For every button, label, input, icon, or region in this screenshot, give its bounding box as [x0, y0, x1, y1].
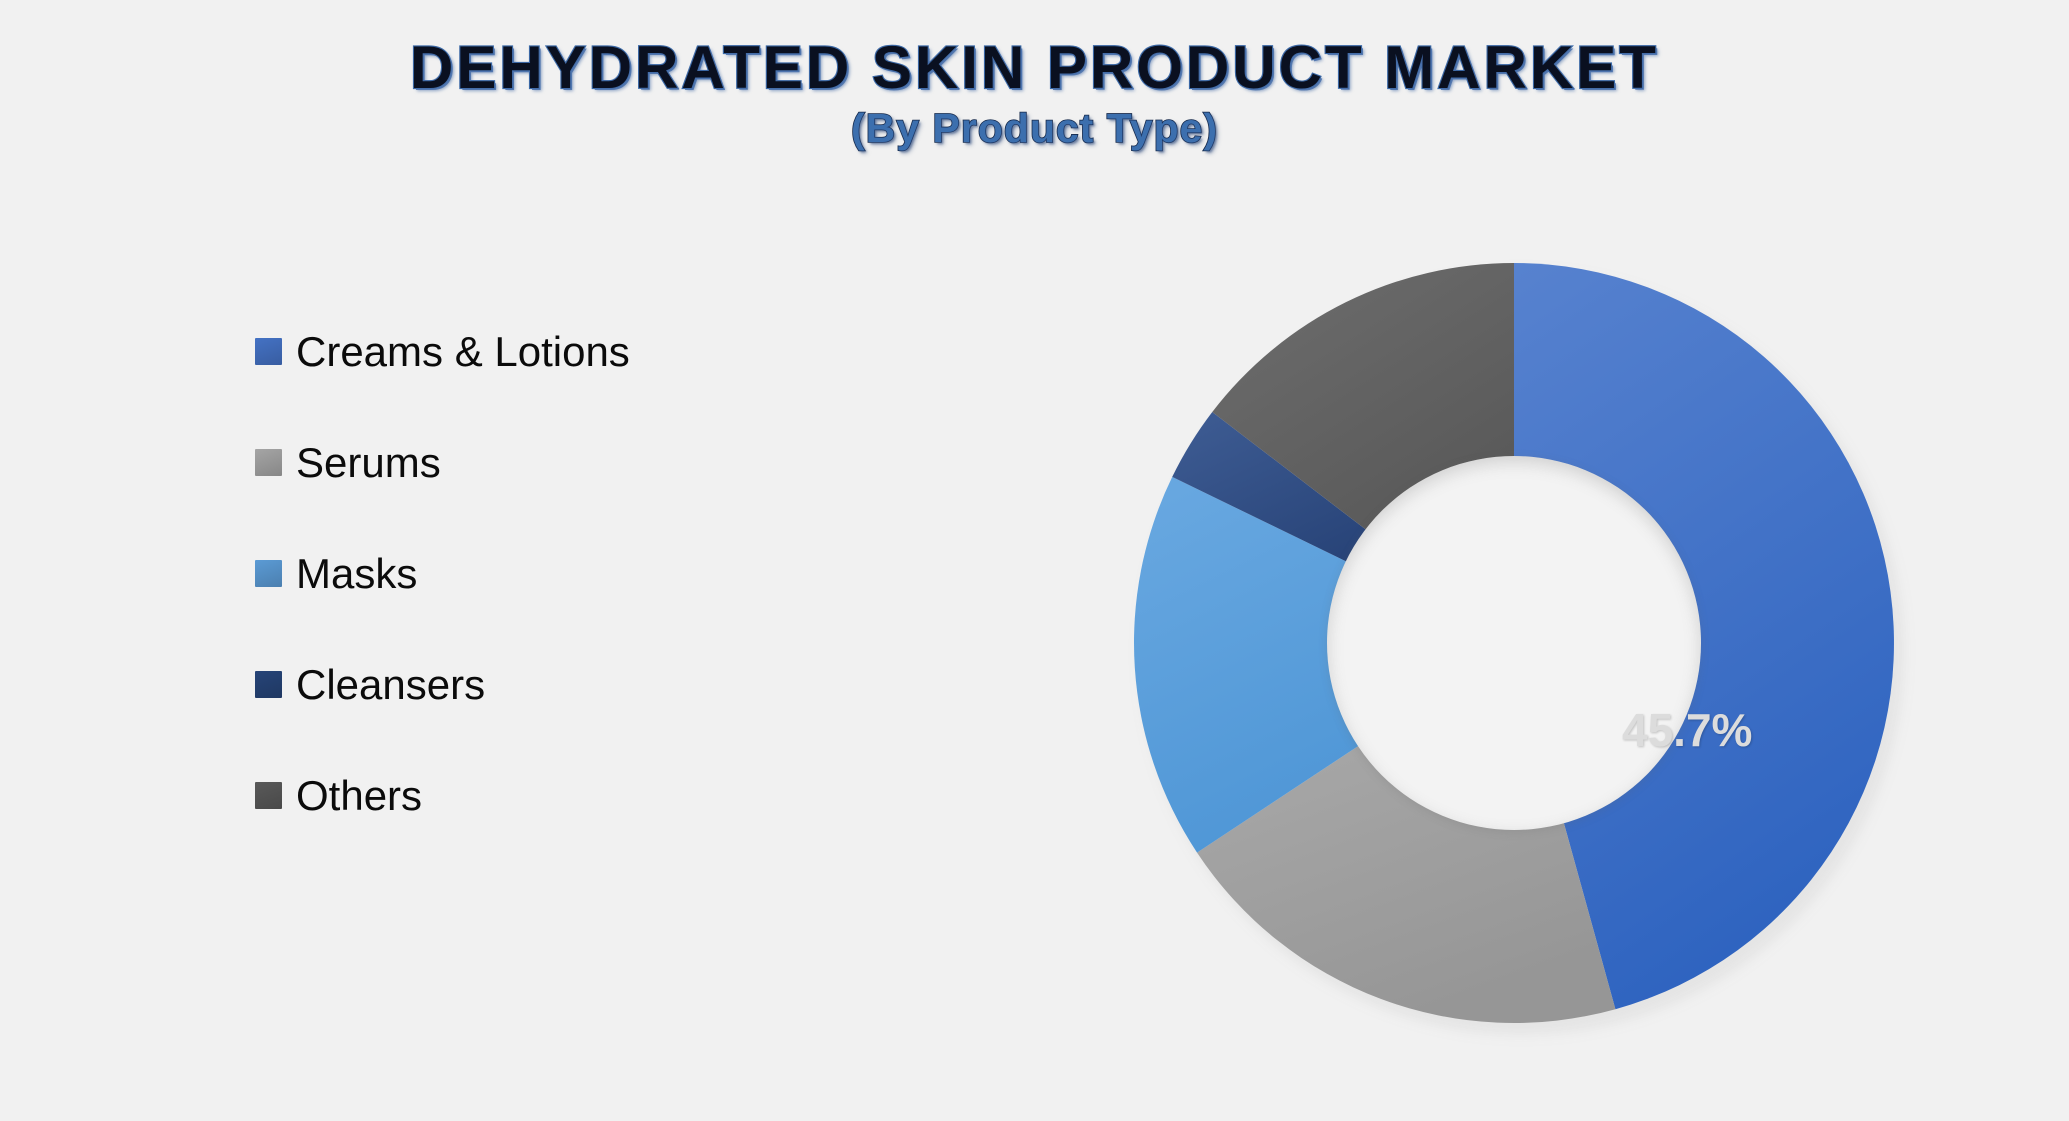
- chart-canvas: DEHYDRATED SKIN PRODUCT MARKET (By Produ…: [0, 0, 2069, 1121]
- donut-center-hole: [1327, 456, 1701, 830]
- legend-square-icon: [255, 338, 282, 365]
- legend-square-icon: [255, 671, 282, 698]
- legend-square-icon: [255, 560, 282, 587]
- chart-legend: Creams & Lotions Serums Masks Cleansers …: [255, 296, 775, 851]
- legend-item-label: Creams & Lotions: [296, 296, 630, 407]
- page-title: DEHYDRATED SKIN PRODUCT MARKET: [0, 34, 2069, 101]
- legend-item-creams-lotions[interactable]: Creams & Lotions: [255, 296, 775, 407]
- title-block: DEHYDRATED SKIN PRODUCT MARKET (By Produ…: [0, 34, 2069, 152]
- legend-item-label: Masks: [296, 518, 417, 629]
- legend-item-label: Serums: [296, 407, 441, 518]
- donut-chart: 45.7%: [1134, 263, 1894, 1023]
- legend-item-cleansers[interactable]: Cleansers: [255, 629, 775, 740]
- legend-square-icon: [255, 449, 282, 476]
- legend-item-label: Others: [296, 740, 422, 851]
- legend-item-others[interactable]: Others: [255, 740, 775, 851]
- page-subtitle: (By Product Type): [0, 105, 2069, 152]
- slice-value-label-creams: 45.7%: [1622, 703, 1752, 757]
- legend-item-masks[interactable]: Masks: [255, 518, 775, 629]
- legend-square-icon: [255, 782, 282, 809]
- legend-item-label: Cleansers: [296, 629, 485, 740]
- legend-item-serums[interactable]: Serums: [255, 407, 775, 518]
